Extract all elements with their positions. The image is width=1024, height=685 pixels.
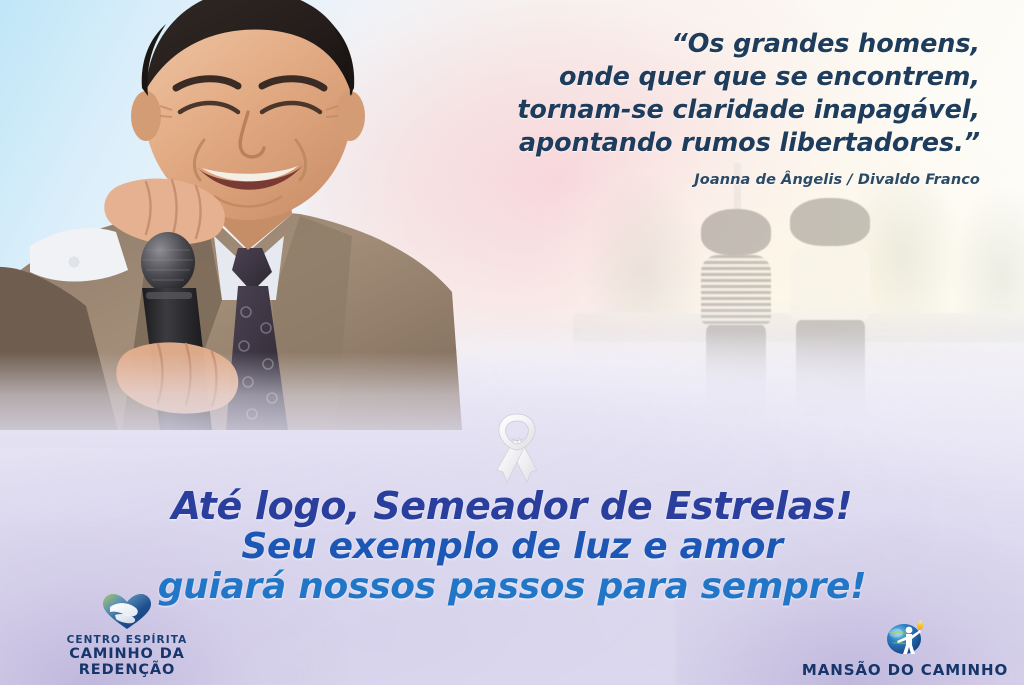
headline-line-1: Até logo, Semeador de Estrelas! [0, 486, 1024, 527]
globe-with-figure-and-flame-icon [800, 618, 1010, 656]
heart-with-hands-icon [22, 593, 232, 631]
logo-right-line-1: MANSÃO DO CAMINHO [800, 662, 1010, 679]
logo-centro-espirita-caminho-da-redencao: CENTRO ESPÍRITA CAMINHO DA REDENÇÃO [22, 593, 232, 679]
logo-left-line-2: CAMINHO DA REDENÇÃO [22, 646, 232, 679]
ribbon-shadow [509, 437, 525, 441]
cuff-button [69, 257, 80, 268]
microphone-head [141, 232, 195, 292]
quote-attribution: Joanna de Ângelis / Divaldo Franco [440, 172, 980, 188]
person-head [790, 198, 870, 246]
flame-shape [917, 620, 923, 630]
white-awareness-ribbon-icon [481, 408, 553, 484]
logo-left-line-1: CENTRO ESPÍRITA [22, 634, 232, 646]
headline-block: Até logo, Semeador de Estrelas! Seu exem… [0, 486, 1024, 606]
headline-line-2: Seu exemplo de luz e amor [0, 527, 1024, 566]
quote-line-1: “Os grandes homens, [440, 28, 980, 61]
ear-right [335, 91, 365, 141]
quote-block: “Os grandes homens, onde quer que se enc… [440, 28, 980, 188]
quote-line-3: tornam-se claridade inapagável, [440, 94, 980, 127]
ear-left [131, 91, 161, 141]
microphone-band [146, 292, 192, 299]
figure-head [906, 626, 913, 633]
ribbon-loop [499, 414, 535, 450]
logo-mansao-do-caminho: MANSÃO DO CAMINHO [800, 618, 1010, 679]
quote-line-2: onde quer que se encontrem, [440, 61, 980, 94]
person-head [701, 209, 772, 255]
portrait-divaldo-franco [0, 0, 470, 430]
memorial-tribute-banner: “Os grandes homens, onde quer que se enc… [0, 0, 1024, 685]
quote-line-4: apontando rumos libertadores.” [440, 127, 980, 160]
shirt-cuff [30, 228, 128, 281]
globe-highlight [889, 628, 903, 637]
